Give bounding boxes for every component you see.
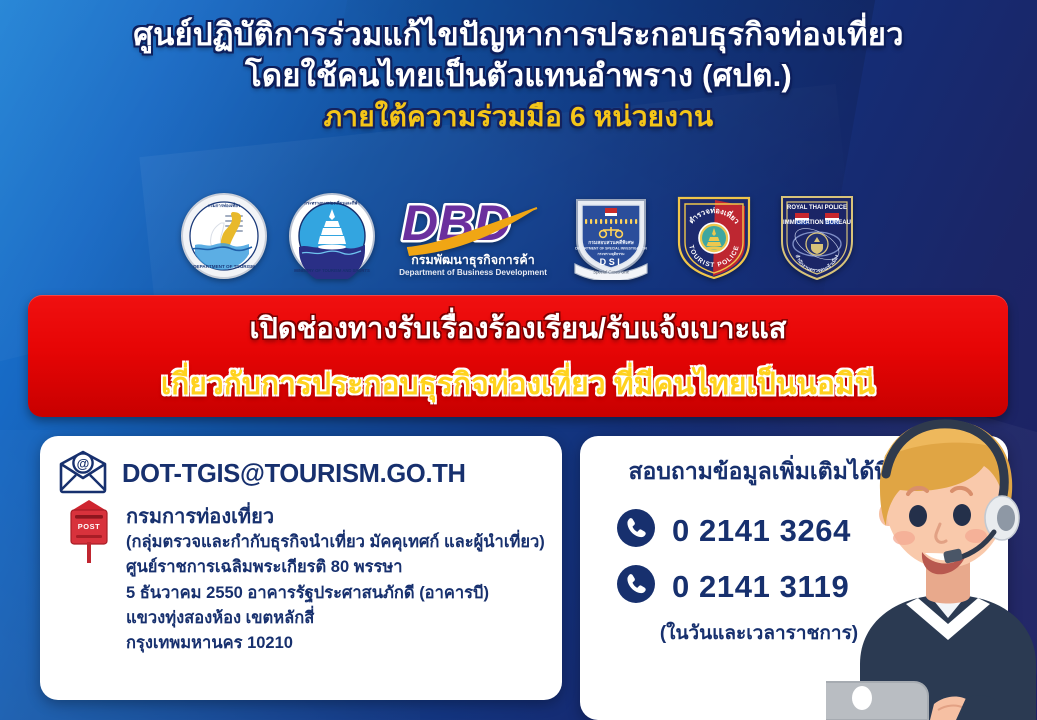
address-line-3: 5 ธันวาคม 2550 อาคารรัฐประศาสนภักดี (อาค… <box>126 581 556 606</box>
svg-text:ROYAL THAI POLICE: ROYAL THAI POLICE <box>786 205 846 211</box>
phone-number-1[interactable]: 0 2141 3264 <box>672 513 851 549</box>
envelope-at-icon: @ <box>58 450 108 499</box>
svg-text:IMMIGRATION BUREAU: IMMIGRATION BUREAU <box>783 220 851 226</box>
svg-text:Special Cases Unit: Special Cases Unit <box>593 270 629 275</box>
header-line-1: ศูนย์ปฏิบัติการร่วมแก้ไขปัญหาการประกอบธุ… <box>0 18 1037 51</box>
agency-logo-strip: DEPARTMENT OF TOURISM กรมการท่องเที่ยว <box>0 190 1037 282</box>
logo-department-of-special-investigation: กรมสอบสวนคดีพิเศษ DEPARTMENT OF SPECIAL … <box>571 192 651 280</box>
svg-text:DEPARTMENT OF SPECIAL INVESTIG: DEPARTMENT OF SPECIAL INVESTIGATION <box>575 247 647 251</box>
email-row[interactable]: @ DOT-TGIS@TOURISM.GO.TH <box>58 450 466 499</box>
organization-name: กรมการท่องเที่ยว <box>126 504 556 530</box>
address-line-5: กรุงเทพมหานคร 10210 <box>126 631 556 656</box>
svg-text:POST: POST <box>78 522 101 531</box>
address-line-4: แขวงทุ่งสองห้อง เขตหลักสี่ <box>126 606 556 631</box>
svg-text:@: @ <box>77 456 90 471</box>
svg-text:MINISTRY OF TOURISM AND SPORTS: MINISTRY OF TOURISM AND SPORTS <box>294 268 370 273</box>
phone-icon <box>616 564 656 609</box>
email-address[interactable]: DOT-TGIS@TOURISM.GO.TH <box>122 460 466 489</box>
phone-number-2[interactable]: 0 2141 3119 <box>672 569 849 605</box>
contact-card: @ DOT-TGIS@TOURISM.GO.TH POST กรมการท่อง… <box>40 436 562 700</box>
svg-text:กรมพัฒนาธุรกิจการค้า: กรมพัฒนาธุรกิจการค้า <box>411 253 535 268</box>
phone-row-2[interactable]: 0 2141 3119 <box>616 564 849 609</box>
header-line-2: โดยใช้คนไทยเป็นตัวแทนอำพราง (ศปต.) <box>0 59 1037 92</box>
svg-text:กระทรวงการท่องเที่ยวและกีฬา: กระทรวงการท่องเที่ยวและกีฬา <box>304 200 360 206</box>
logo-tourist-police: ตำรวจท่องเที่ยว TOURIST POLICE <box>673 192 755 280</box>
logo-department-of-business-development: DBD DBD กรมพัฒนาธุรกิจการค้า Department … <box>397 192 549 280</box>
header-line-3: ภายใต้ความร่วมมือ 6 หน่วยงาน <box>0 102 1037 132</box>
logo-ministry-of-tourism-and-sports: กระทรวงการท่องเที่ยวและกีฬา MINISTRY OF … <box>289 192 375 280</box>
mailbox-icon: POST <box>66 498 112 569</box>
svg-text:กรมสอบสวนคดีพิเศษ: กรมสอบสวนคดีพิเศษ <box>588 239 634 246</box>
address-line-2: ศูนย์ราชการเฉลิมพระเกียรติ 80 พรรษา <box>126 555 556 580</box>
svg-text:DSI: DSI <box>599 257 622 267</box>
poster-root: ศูนย์ปฏิบัติการร่วมแก้ไขปัญหาการประกอบธุ… <box>0 0 1037 720</box>
logo-immigration-bureau: ROYAL THAI POLICE IMMIGRATION BUREAU <box>777 192 857 280</box>
phone-row-1[interactable]: 0 2141 3264 <box>616 508 851 553</box>
svg-text:Department of Business Develop: Department of Business Development <box>399 268 547 277</box>
phone-icon <box>616 508 656 553</box>
address-line-1: (กลุ่มตรวจและกำกับธุรกิจนำเที่ยว มัคคุเท… <box>126 530 556 555</box>
svg-text:กรมการท่องเที่ยว: กรมการท่องเที่ยว <box>207 202 240 208</box>
logo-department-of-tourism: DEPARTMENT OF TOURISM กรมการท่องเที่ยว <box>181 192 267 280</box>
poster-header: ศูนย์ปฏิบัติการร่วมแก้ไขปัญหาการประกอบธุ… <box>0 18 1037 132</box>
svg-text:DEPARTMENT OF TOURISM: DEPARTMENT OF TOURISM <box>193 264 255 269</box>
banner-line-1: เปิดช่องทางรับเรื่องร้องเรียน/รับแจ้งเบา… <box>250 305 787 351</box>
banner-line-2: เกี่ยวกับการประกอบธุรกิจท่องเที่ยว ที่มี… <box>161 361 875 408</box>
call-center-operator-illustration <box>826 398 1037 720</box>
postal-address-block: กรมการท่องเที่ยว (กลุ่มตรวจและกำกับธุรกิ… <box>126 504 556 656</box>
